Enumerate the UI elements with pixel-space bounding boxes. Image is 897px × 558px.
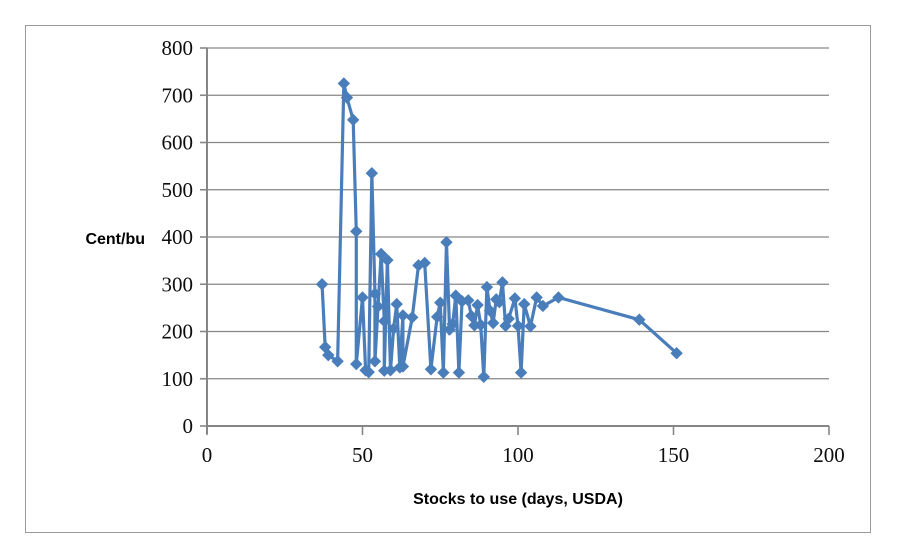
- y-tick-label-100: 100: [162, 367, 194, 391]
- x-axis-title: Stocks to use (days, USDA): [413, 491, 623, 508]
- x-tick-label-50: 50: [352, 443, 373, 467]
- scatter-line-chart: 8007006005004003002001000 050100150200 C…: [26, 26, 870, 532]
- y-tick-label-200: 200: [162, 320, 194, 344]
- x-tick-label-0: 0: [202, 443, 213, 467]
- x-tick-label-200: 200: [813, 443, 845, 467]
- y-tick-label-300: 300: [162, 272, 194, 296]
- y-tick-label-400: 400: [162, 225, 194, 249]
- y-tick-labels-group: 8007006005004003002001000: [162, 36, 194, 438]
- y-tick-label-500: 500: [162, 178, 194, 202]
- x-tick-label-150: 150: [658, 443, 690, 467]
- y-tick-label-0: 0: [183, 414, 194, 438]
- y-tick-label-800: 800: [162, 36, 194, 60]
- chart-frame: 8007006005004003002001000 050100150200 C…: [25, 25, 871, 533]
- x-tick-label-100: 100: [502, 443, 534, 467]
- y-tick-label-700: 700: [162, 83, 194, 107]
- y-axis-title: Cent/bu: [85, 231, 145, 248]
- y-tick-label-600: 600: [162, 131, 194, 155]
